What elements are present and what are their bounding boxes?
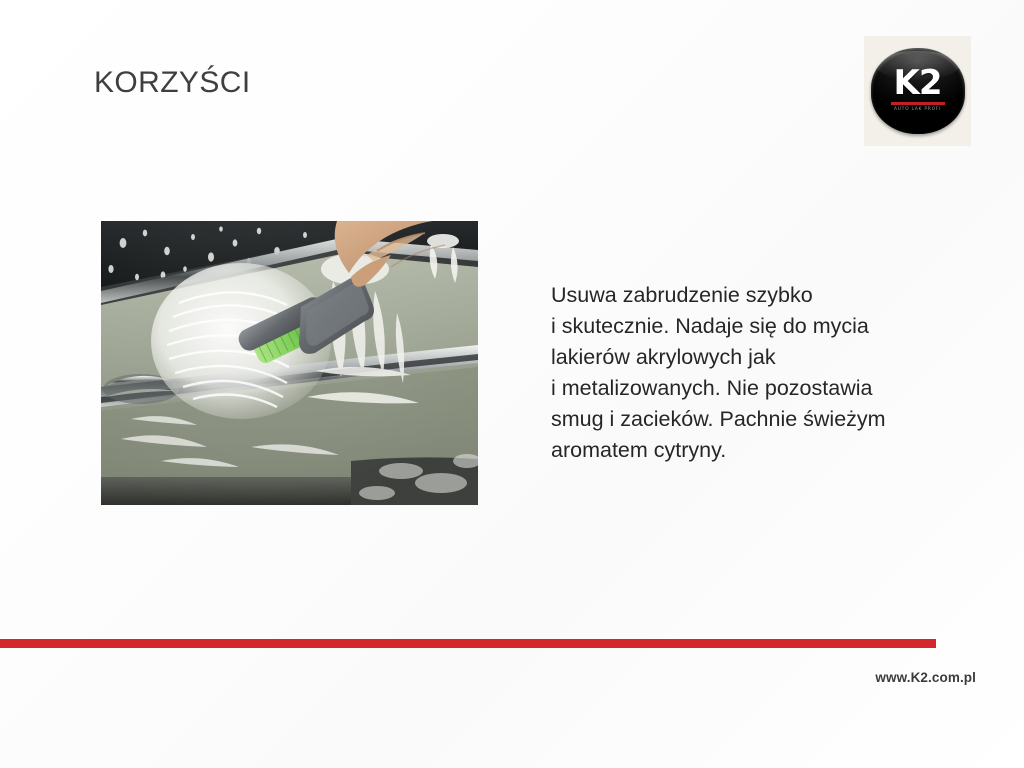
k2-wordmark: K2 [893,68,941,99]
benefits-text: Usuwa zabrudzenie szybko i skutecznie. N… [551,280,923,466]
page-title: KORZYŚCI [94,66,251,101]
slide: KORZYŚCI K2 AUTO LAK PROFI [0,0,1024,768]
benefits-line-2: i skutecznie. Nadaje się do mycia [551,311,923,342]
k2-logo: K2 AUTO LAK PROFI [864,36,971,146]
benefits-line-4: i metalizowanych. Nie pozostawia [551,373,923,404]
benefits-line-1: Usuwa zabrudzenie szybko [551,280,923,311]
k2-logo-badge: K2 AUTO LAK PROFI [871,48,965,134]
k2-logo-rule [891,102,945,105]
benefits-line-5: smug i zacieków. Pachnie świeżym [551,404,923,435]
footer-rule [0,639,936,648]
benefits-line-6: aromatem cytryny. [551,435,923,466]
footer-website-url[interactable]: www.K2.com.pl [875,670,976,685]
benefits-line-3: lakierów akrylowych jak [551,342,923,373]
car-wash-photo [101,221,478,505]
car-wash-photo-illustration [101,221,478,505]
k2-logo-tagline: AUTO LAK PROFI [894,107,941,112]
